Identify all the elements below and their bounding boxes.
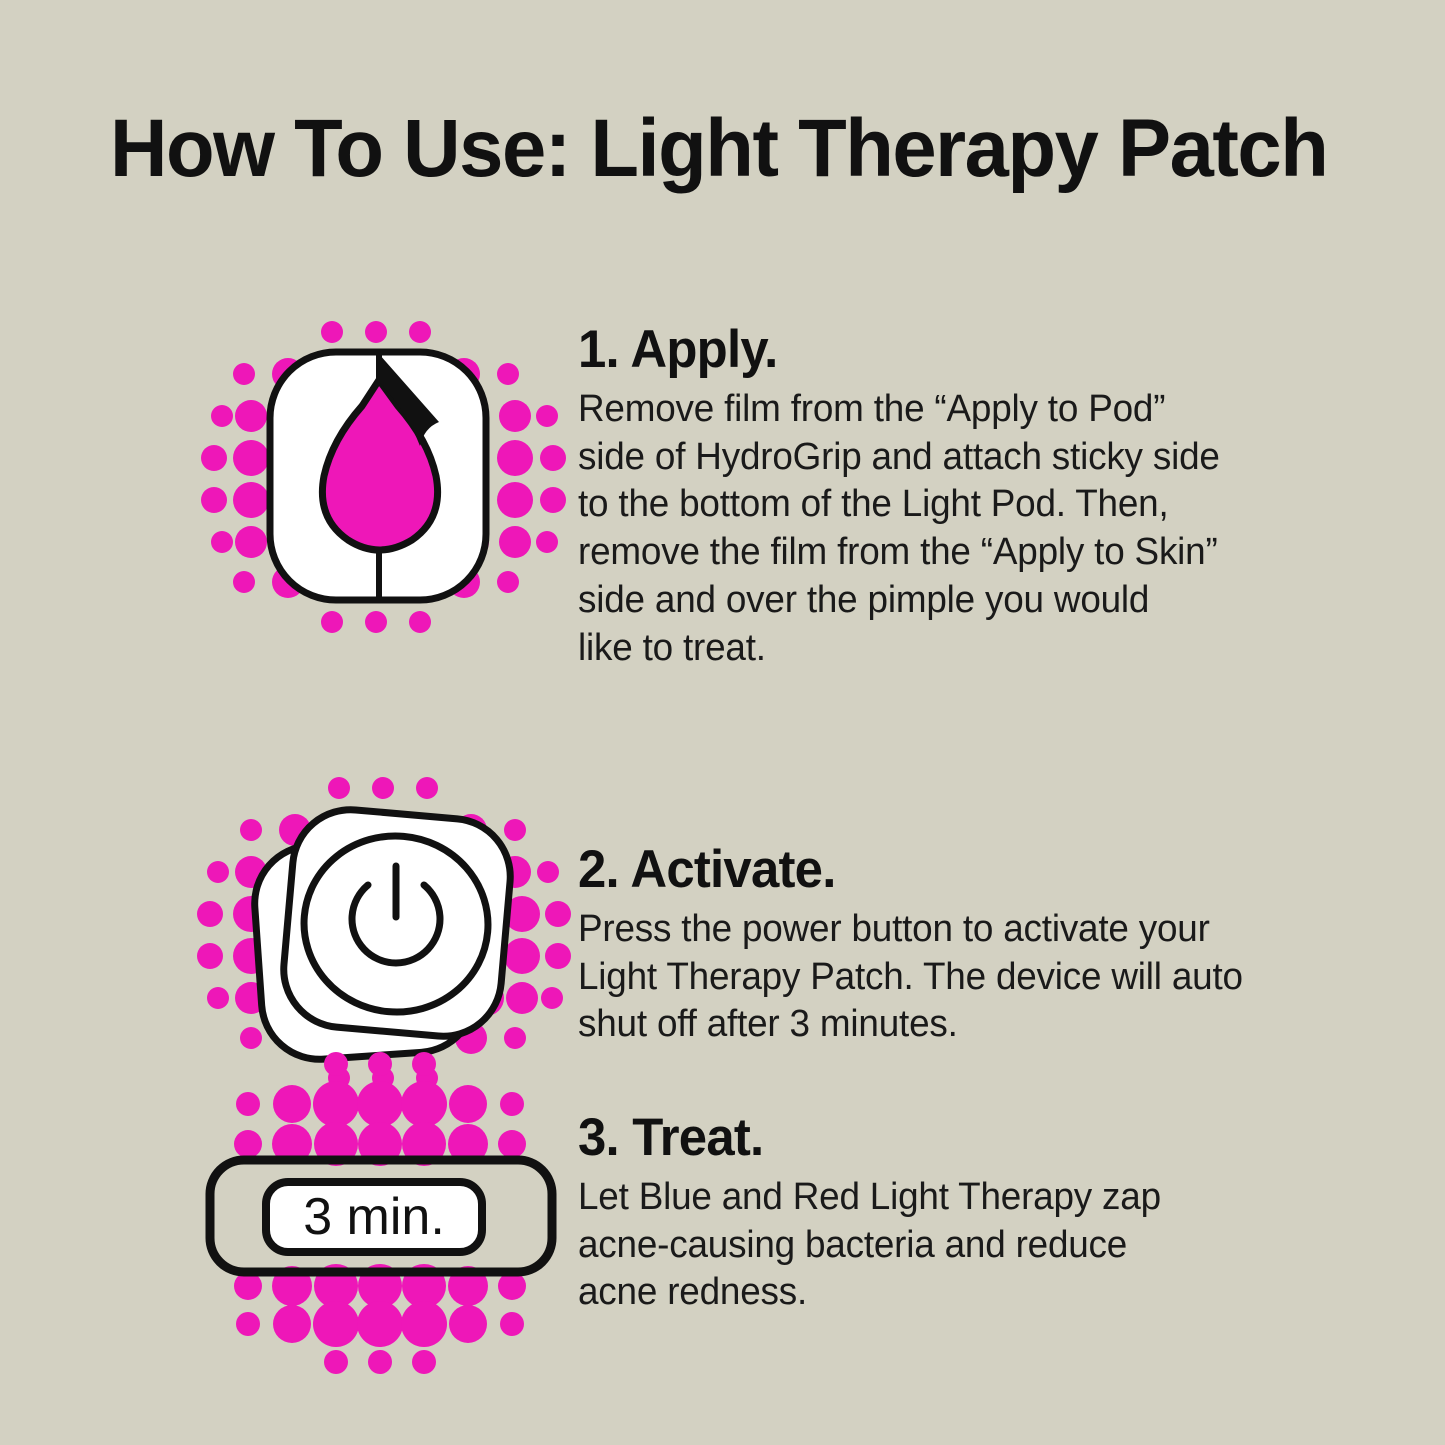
step-3-body: Let Blue and Red Light Therapy zap acne-… [578, 1174, 1315, 1318]
step-item-treat: 3 min. 3. Treat. Let Blue and Red Light … [0, 1030, 1445, 1360]
step-3-text-cell: 3. Treat. Let Blue and Red Light Therapy… [578, 1110, 1338, 1317]
step-item-apply: 1. Apply. Remove film from the “Apply to… [0, 300, 1445, 680]
step-1-icon-cell [196, 310, 576, 640]
step-3-icon-cell: 3 min. [196, 1048, 576, 1378]
step-1-text-cell: 1. Apply. Remove film from the “Apply to… [578, 322, 1338, 673]
step-1-body: Remove film from the “Apply to Pod” side… [578, 386, 1315, 673]
step-2-text-cell: 2. Activate. Press the power button to a… [578, 842, 1338, 1049]
step-item-activate: 2. Activate. Press the power button to a… [0, 690, 1445, 1020]
step-2-body: Press the power button to activate your … [578, 906, 1315, 1050]
infographic-page: How To Use: Light Therapy Patch [0, 0, 1445, 1445]
step-3-heading: 3. Treat. [578, 1110, 1308, 1166]
timer-label: 3 min. [303, 1188, 445, 1246]
hydrogrip-patch-peel-icon [196, 310, 576, 640]
step-2-heading: 2. Activate. [578, 842, 1308, 898]
step-1-heading: 1. Apply. [578, 322, 1308, 378]
timer-three-minutes-icon: 3 min. [196, 1048, 576, 1378]
page-title: How To Use: Light Therapy Patch [110, 108, 1327, 190]
